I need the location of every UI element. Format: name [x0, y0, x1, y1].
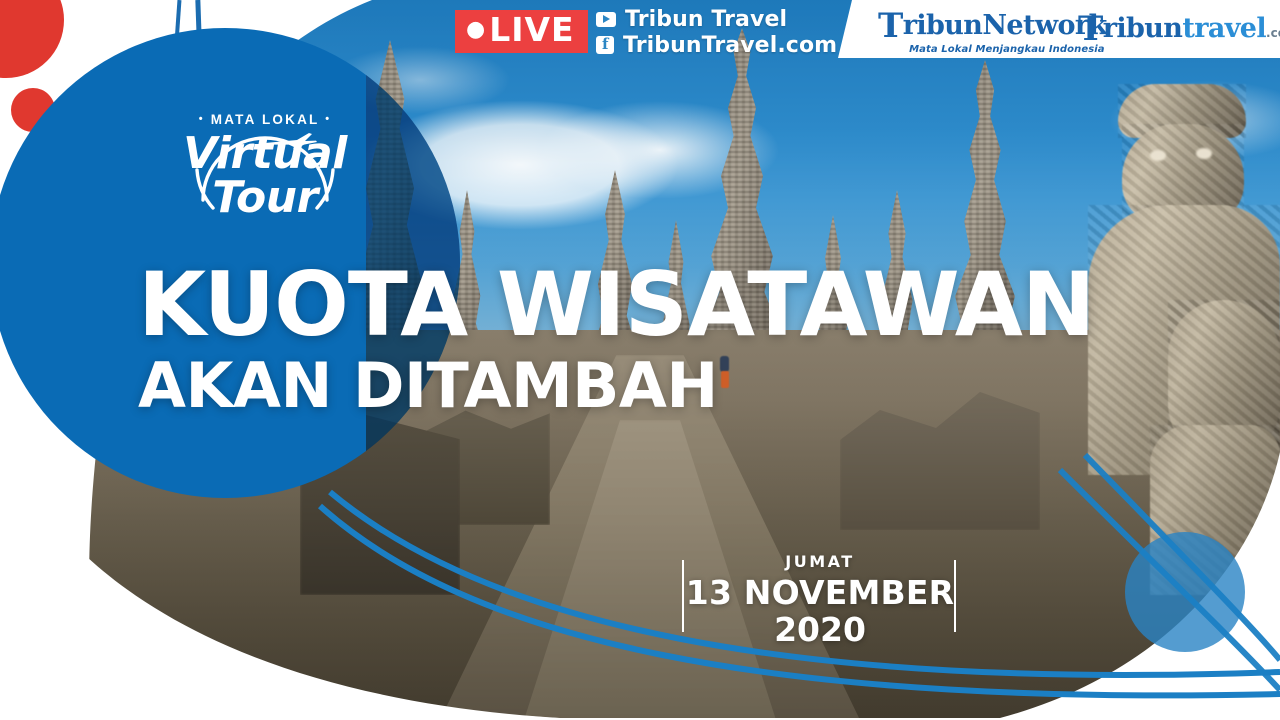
- date-rule-left: [682, 560, 684, 632]
- tribun-network-tagline: Mata Lokal Menjangkau Indonesia: [878, 44, 1107, 55]
- broadcast-lower-third-graphic: • MATA LOKAL • Virtual Tour ●LIVE Tribun…: [0, 0, 1280, 720]
- tribun-travel-logo: Tribuntravel.com: [1078, 12, 1280, 46]
- date-day-month: 13 NOVEMBER: [660, 574, 980, 612]
- tribun-travel-wordmark: Tribuntravel.com: [1078, 12, 1280, 46]
- badge-dot-left-icon: •: [199, 113, 205, 125]
- date-rule-right: [954, 560, 956, 632]
- facebook-icon: [596, 36, 614, 54]
- youtube-handle: Tribun Travel: [625, 7, 787, 32]
- tribun-travel-name-bold: ribun: [1103, 13, 1183, 44]
- channel-row-youtube: Tribun Travel: [596, 6, 837, 32]
- channel-row-facebook: TribunTravel.com: [596, 32, 837, 58]
- youtube-icon: [596, 12, 616, 27]
- tribun-travel-dropcap: T: [1078, 9, 1103, 49]
- badge-ring-text: MATA LOKAL: [211, 112, 319, 127]
- facebook-handle: TribunTravel.com: [623, 33, 837, 58]
- headline-line-2: AKAN DITAMBAH: [138, 355, 1248, 417]
- badge-dot-right-icon: •: [325, 113, 331, 125]
- tribun-network-logo: TribunNetwork Mata Lokal Menjangkau Indo…: [878, 9, 1107, 55]
- badge-ring-label: • MATA LOKAL •: [167, 112, 363, 127]
- tribun-travel-suffix: .com: [1266, 26, 1280, 40]
- date-block: JUMAT 13 NOVEMBER 2020: [660, 552, 980, 648]
- channel-handles: Tribun Travel TribunTravel.com: [596, 6, 837, 58]
- headline-block: KUOTA WISATAWAN AKAN DITAMBAH: [138, 262, 1248, 417]
- headline-line-1: KUOTA WISATAWAN: [138, 262, 1248, 347]
- tribun-network-wordmark: TribunNetwork: [878, 9, 1107, 43]
- date-weekday: JUMAT: [660, 552, 980, 571]
- tribun-travel-name-rest: travel: [1182, 13, 1266, 44]
- logo-bar: TribunNetwork Mata Lokal Menjangkau Indo…: [838, 0, 1280, 58]
- tribun-dropcap: T: [878, 6, 903, 46]
- virtual-tour-wordmark: Virtual Tour: [155, 132, 375, 220]
- tribun-name-bold: ribun: [903, 10, 983, 41]
- accent-circle-bottom-right: [1125, 532, 1245, 652]
- live-label: LIVE: [489, 10, 574, 49]
- virtual-tour-logo: • MATA LOKAL • Virtual Tour: [167, 80, 363, 220]
- date-year: 2020: [660, 612, 980, 648]
- live-badge: ●LIVE: [455, 10, 588, 53]
- live-bullet-icon: ●: [466, 17, 486, 42]
